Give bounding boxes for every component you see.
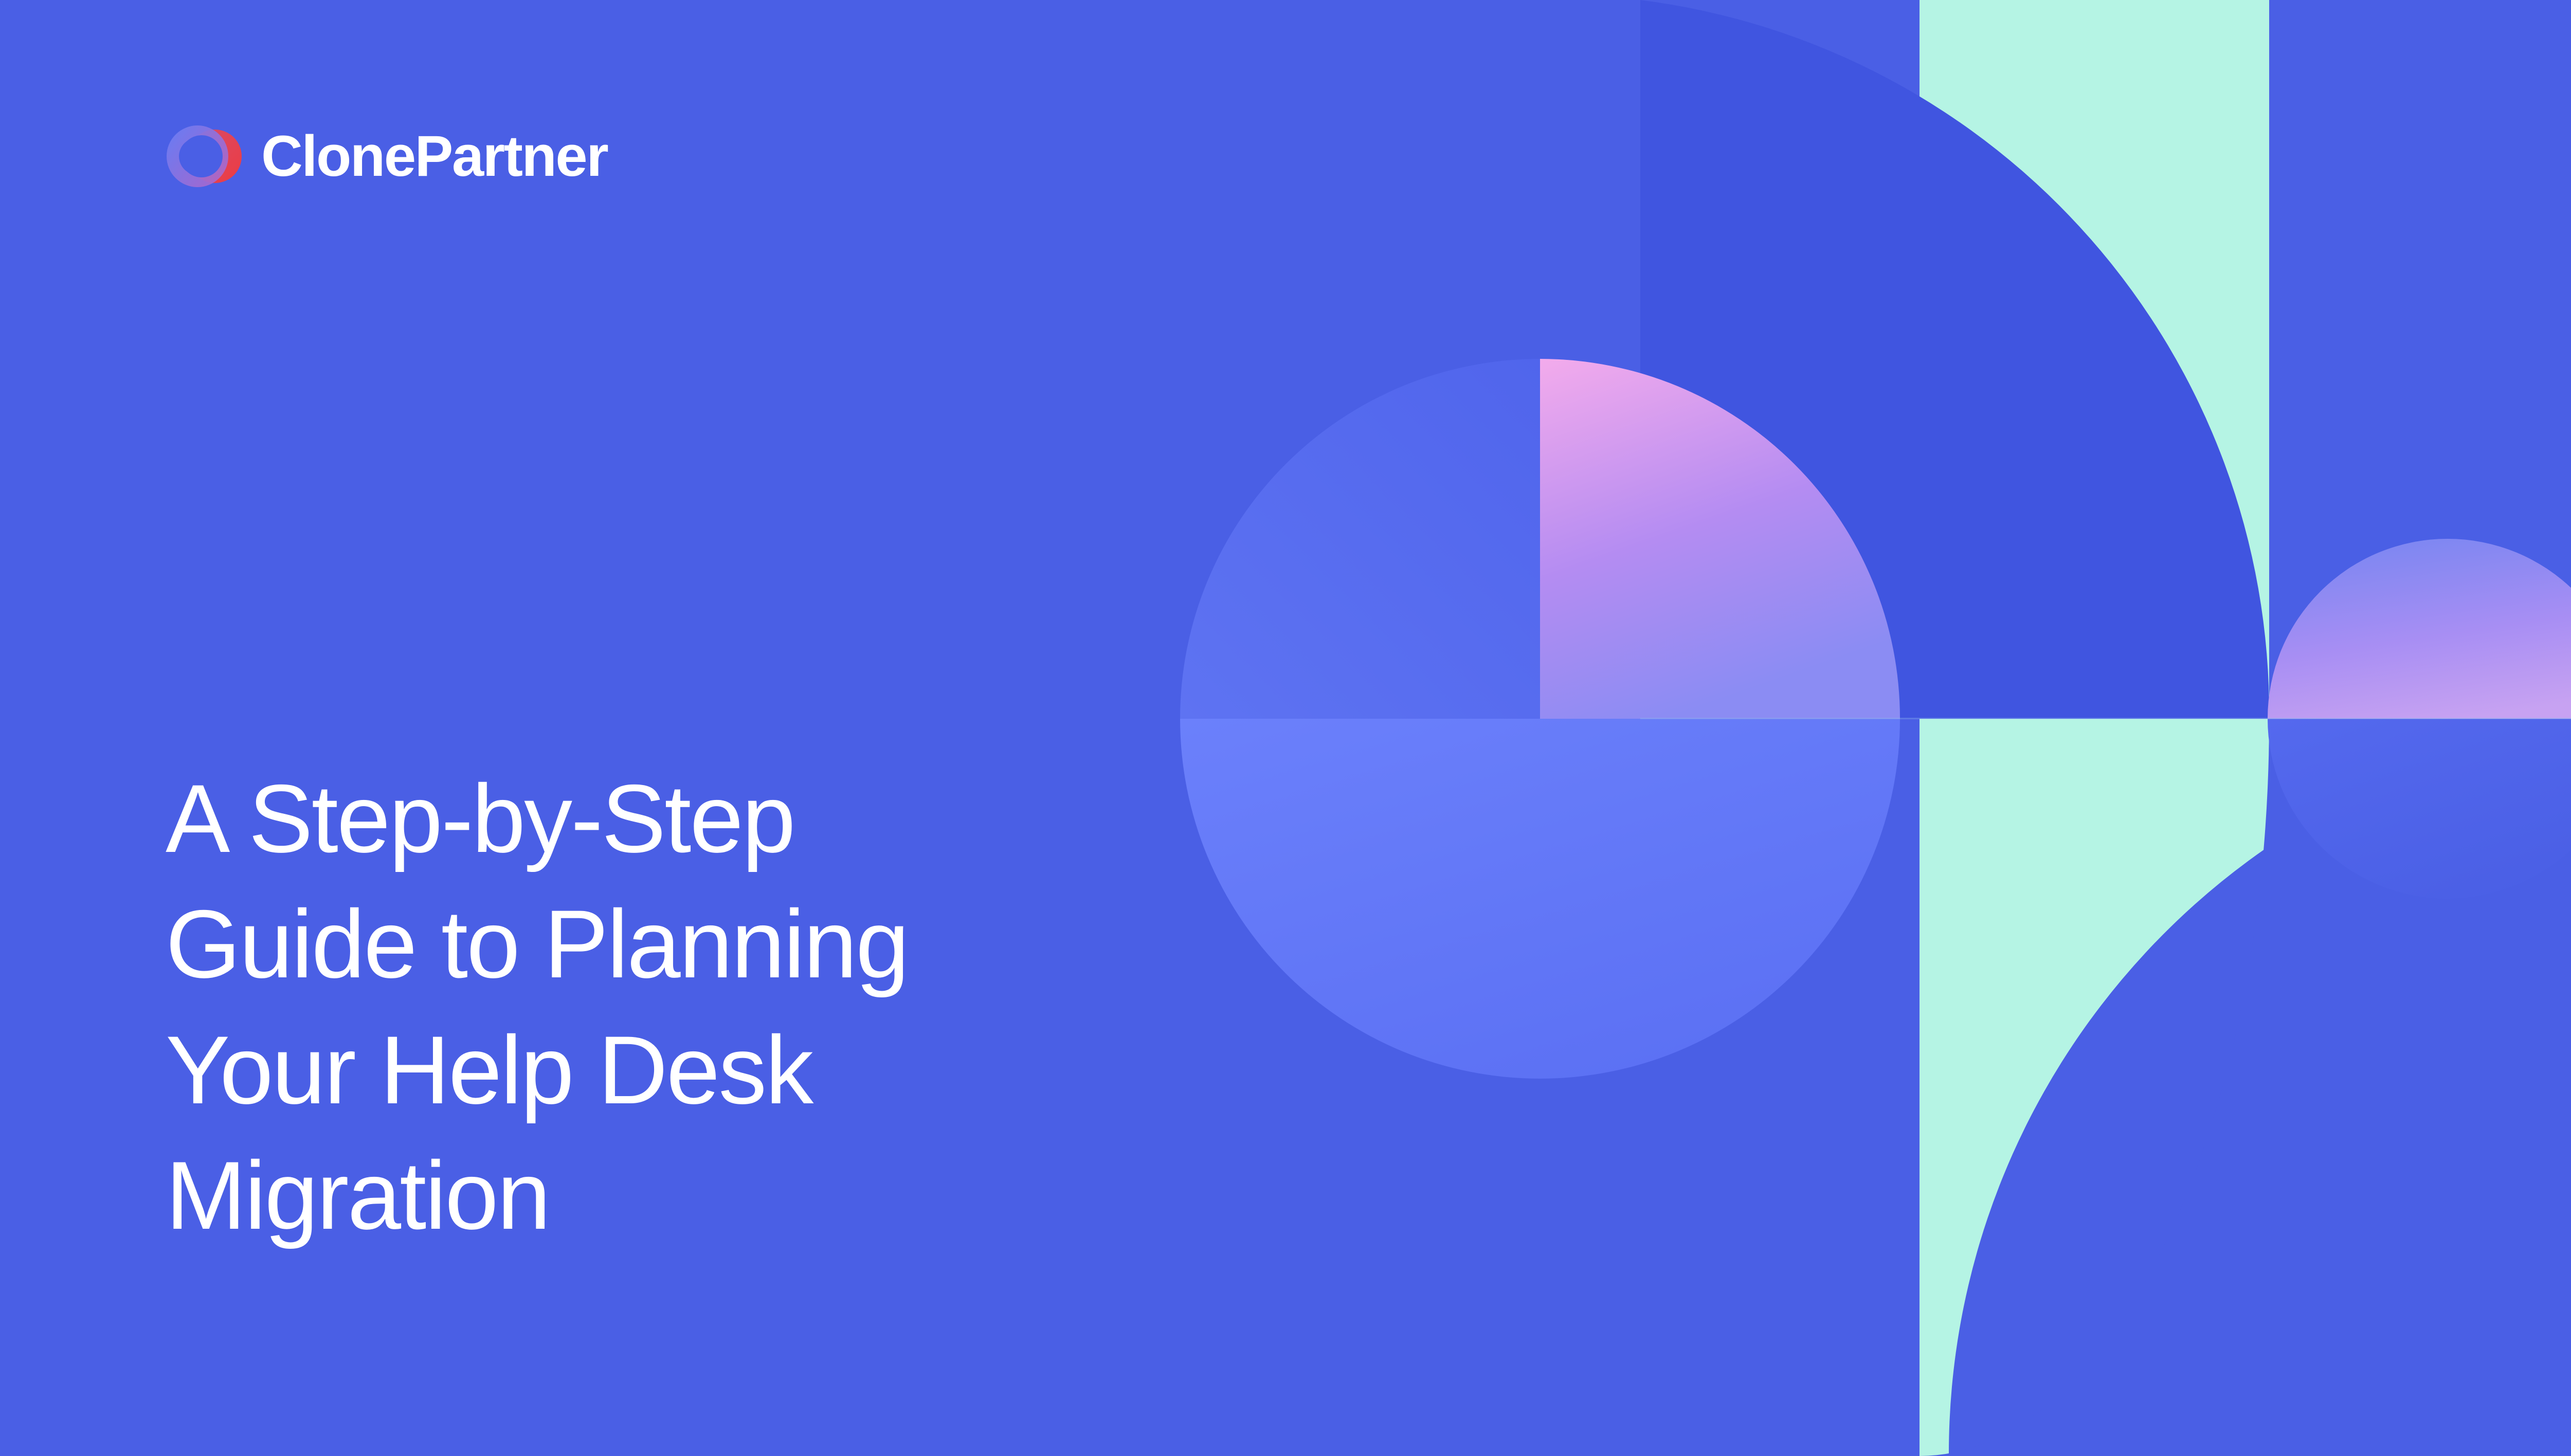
brand-lockup[interactable]: ClonePartner	[166, 117, 607, 195]
headline-line-3: Your Help Desk	[166, 1007, 908, 1133]
headline-line-2: Guide to Planning	[166, 881, 908, 1007]
overlapping-circles-logo-icon	[166, 117, 244, 195]
cover-page: ClonePartner A Step-by-Step Guide to Pla…	[0, 0, 2571, 1456]
headline-line-1: A Step-by-Step	[166, 756, 908, 881]
midline-divider	[1640, 718, 2571, 719]
brand-name: ClonePartner	[261, 128, 607, 185]
page-title: A Step-by-Step Guide to Planning Your He…	[166, 756, 908, 1259]
headline-line-4: Migration	[166, 1133, 908, 1258]
